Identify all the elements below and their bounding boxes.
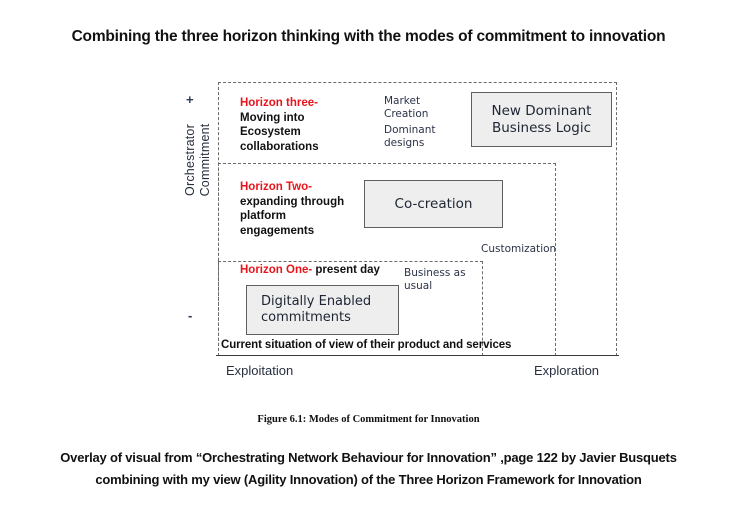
- horizon-one-body-line1: present day: [312, 264, 380, 276]
- box-cocreation: Co-creation: [364, 180, 503, 228]
- horizon-two-label: Horizon Two- expanding through platform …: [240, 180, 370, 238]
- horizon-two-body-line3: engagements: [240, 225, 314, 237]
- note-business-as-usual-line2: usual: [404, 280, 432, 292]
- note-market-creation: Market Creation: [384, 95, 446, 120]
- baseline-divider: [216, 355, 619, 356]
- box-digitally-enabled-line1: Digitally Enabled: [261, 294, 371, 309]
- attribution-line2: combining with my view (Agility Innovati…: [0, 469, 737, 491]
- box-digitally-enabled-line2: commitments: [261, 310, 351, 325]
- y-axis-minus-marker: -: [188, 308, 192, 323]
- note-business-as-usual: Business as usual: [404, 267, 468, 292]
- note-market-creation-line1: Market: [384, 95, 420, 107]
- note-market-creation-line2: Creation: [384, 108, 428, 120]
- box-new-dominant-business-logic: New Dominant Business Logic: [471, 92, 612, 147]
- box-cocreation-label: Co-creation: [395, 196, 473, 212]
- x-axis-label-exploitation: Exploitation: [226, 363, 293, 378]
- horizon-three-body-line3: collaborations: [240, 141, 319, 153]
- y-axis-label: Orchestrator Commitment: [183, 80, 213, 240]
- horizon-three-body-line2: Ecosystem: [240, 126, 301, 138]
- x-axis-label-exploration: Exploration: [534, 363, 599, 378]
- note-business-as-usual-line1: Business as: [404, 267, 466, 279]
- horizon-three-body-line1: Moving into: [240, 112, 305, 124]
- horizon-three-heading: Horizon three-: [240, 97, 318, 109]
- horizon-three-label: Horizon three- Moving into Ecosystem col…: [240, 96, 370, 154]
- figure-caption: Figure 6.1: Modes of Commitment for Inno…: [0, 414, 737, 425]
- note-dominant-designs: Dominant designs: [384, 124, 446, 149]
- y-axis-label-line1: Orchestrator: [183, 80, 198, 240]
- diagram-canvas: + - Orchestrator Commitment Horizon thre…: [0, 0, 737, 400]
- horizon-one-heading: Horizon One-: [240, 264, 312, 276]
- note-dominant-designs-line1: Dominant: [384, 124, 436, 136]
- horizon-two-body-line2: platform: [240, 210, 286, 222]
- attribution-line1: Overlay of visual from “Orchestrating Ne…: [0, 447, 737, 469]
- box-digitally-enabled-commitments: Digitally Enabled commitments: [246, 285, 399, 335]
- box-new-dominant-line2: Business Logic: [492, 120, 591, 136]
- box-new-dominant-line1: New Dominant: [492, 103, 592, 119]
- note-dominant-designs-line2: designs: [384, 137, 424, 149]
- y-axis-label-line2: Commitment: [198, 80, 213, 240]
- note-customization: Customization: [481, 243, 571, 256]
- horizon-two-body-line1: expanding through: [240, 196, 344, 208]
- horizon-two-heading: Horizon Two-: [240, 181, 312, 193]
- current-situation-label: Current situation of view of their produ…: [221, 339, 511, 351]
- attribution-text: Overlay of visual from “Orchestrating Ne…: [0, 447, 737, 491]
